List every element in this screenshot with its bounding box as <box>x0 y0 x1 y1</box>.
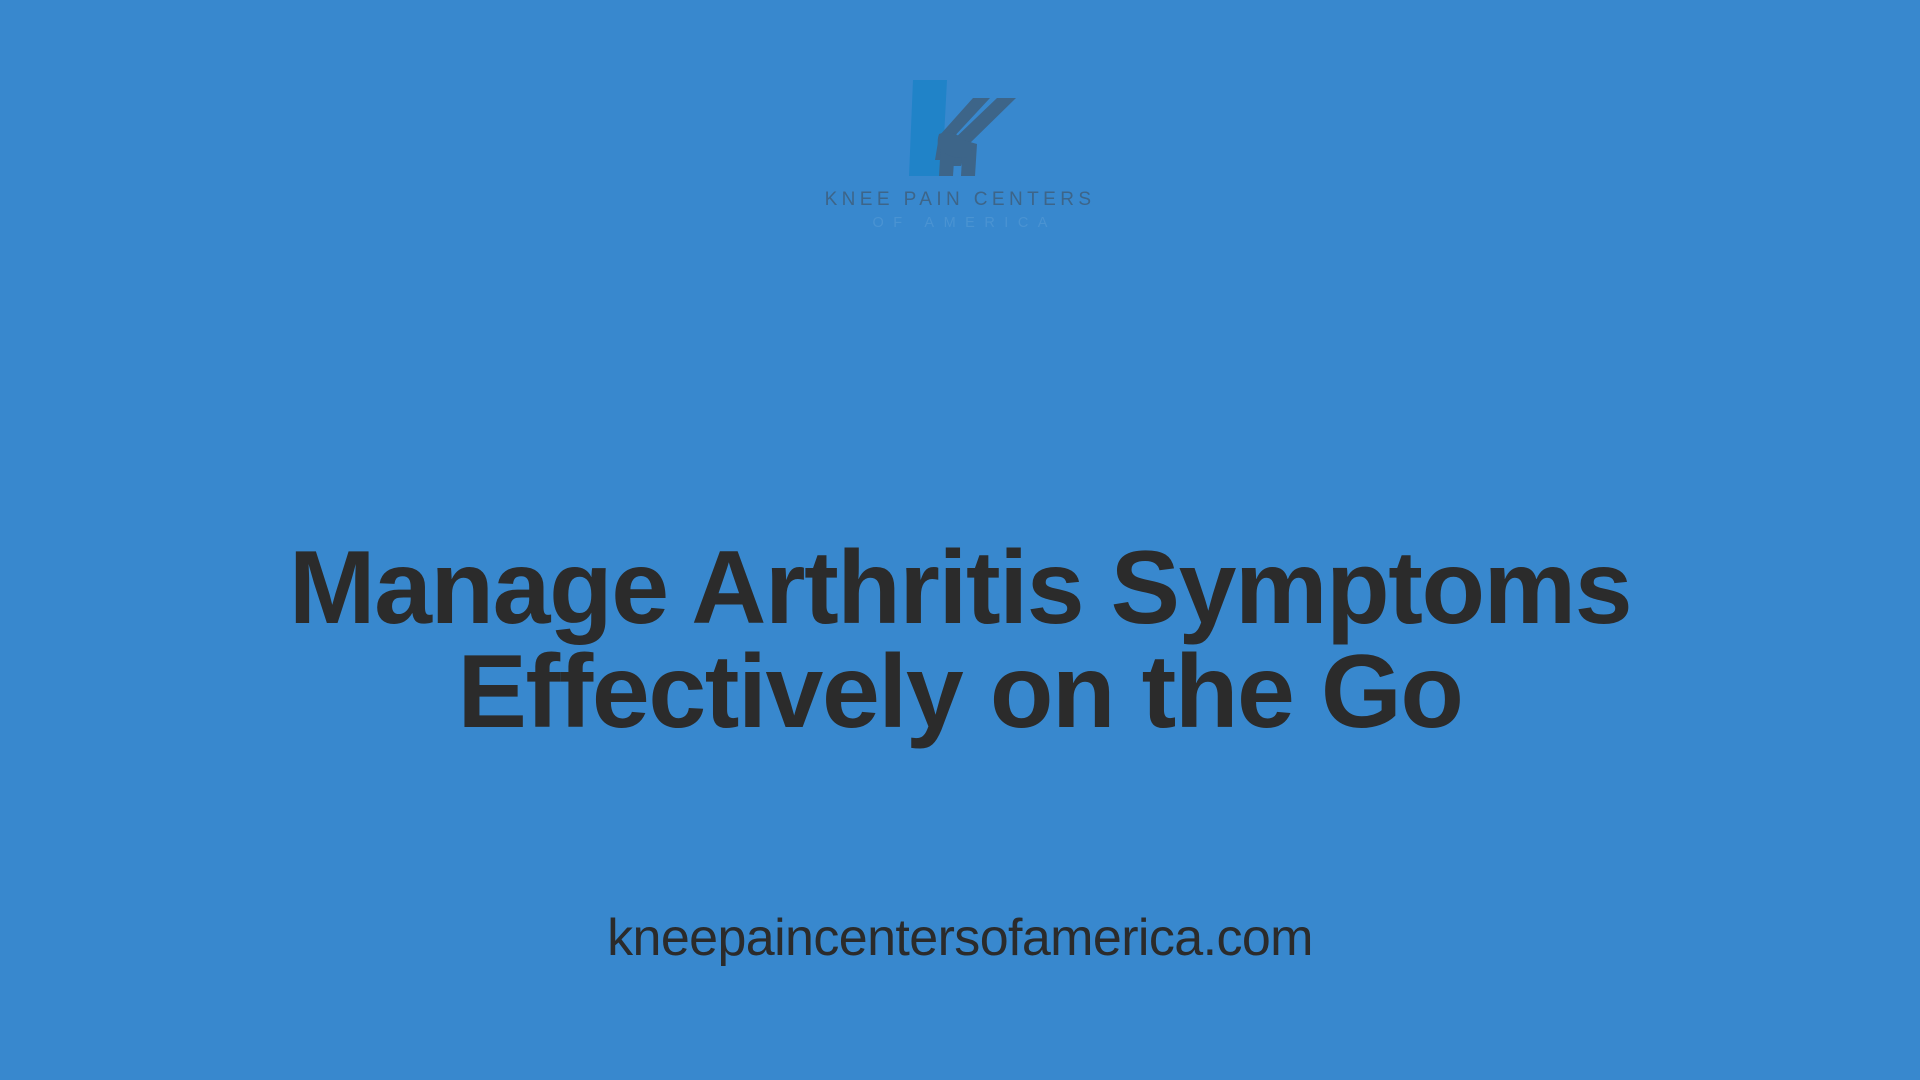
brand-sub-wordmark: OF AMERICA <box>863 216 1057 231</box>
headline: Manage Arthritis Symptoms Effectively on… <box>210 536 1710 744</box>
brand-wordmark: KNEE PAIN CENTERS <box>825 190 1096 209</box>
social-share-card: KNEE PAIN CENTERS OF AMERICA Manage Arth… <box>0 0 1920 1080</box>
knee-joint-k-logo-icon <box>885 72 1035 184</box>
website-url: kneepaincentersofamerica.com <box>260 910 1660 967</box>
brand-logo: KNEE PAIN CENTERS OF AMERICA <box>750 72 1170 231</box>
